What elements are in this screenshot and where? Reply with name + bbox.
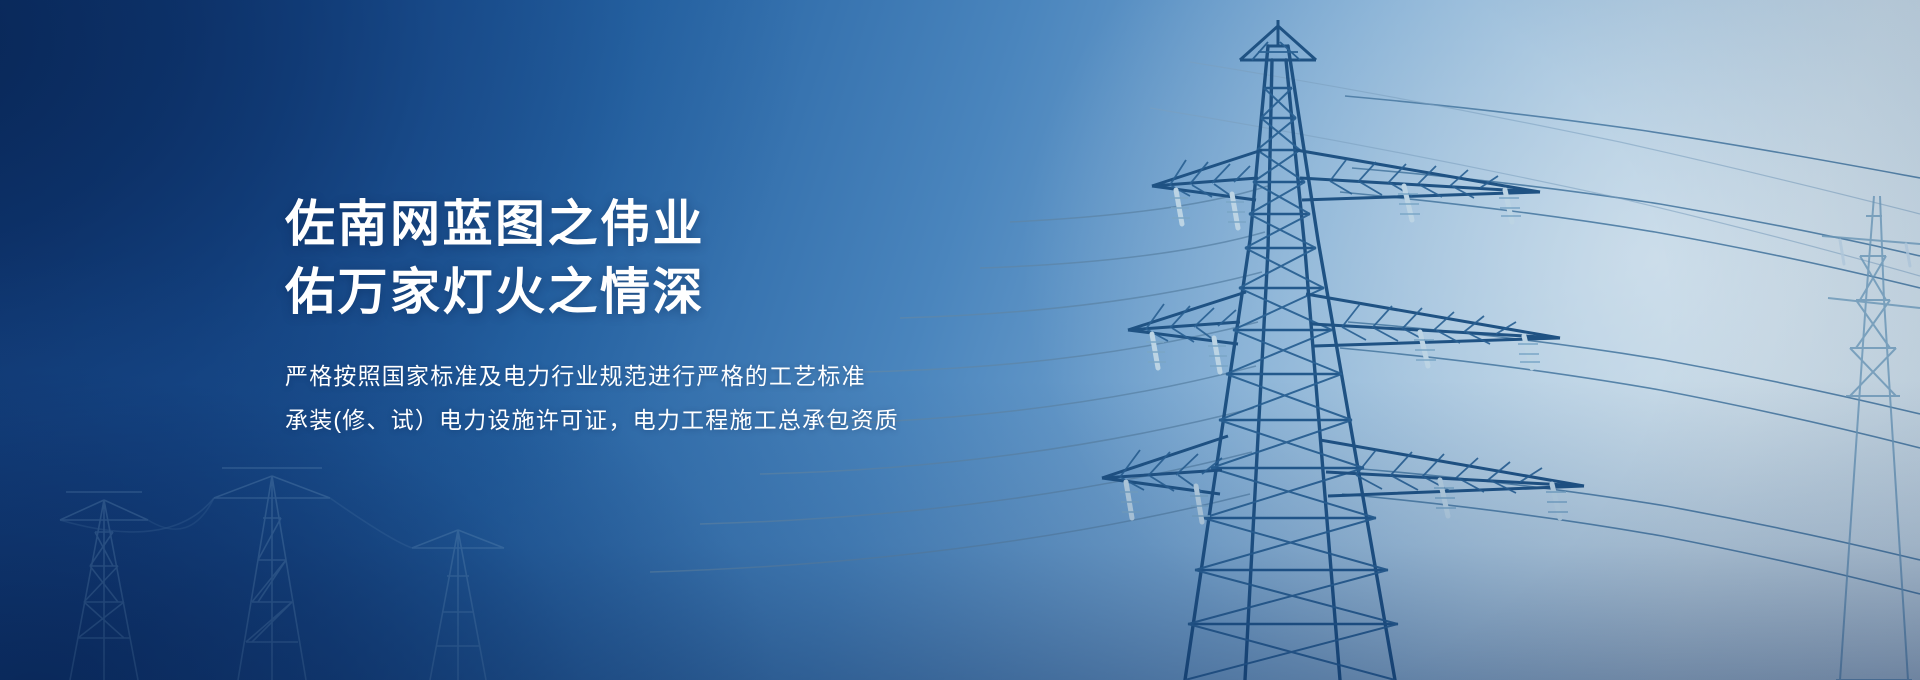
banner-copy: 佐南网蓝图之伟业 佑万家灯火之情深 严格按照国家标准及电力行业规范进行严格的工艺…: [285, 190, 1105, 442]
subtitle-block: 严格按照国家标准及电力行业规范进行严格的工艺标准 承装(修、试）电力设施许可证，…: [285, 354, 1105, 442]
subtitle-line-2: 承装(修、试）电力设施许可证，电力工程施工总承包资质: [285, 398, 1105, 442]
headline-line-1: 佐南网蓝图之伟业: [285, 190, 1105, 258]
subtitle-line-1: 严格按照国家标准及电力行业规范进行严格的工艺标准: [285, 354, 1105, 398]
headline-line-2: 佑万家灯火之情深: [285, 258, 1105, 326]
hero-banner: 佐南网蓝图之伟业 佑万家灯火之情深 严格按照国家标准及电力行业规范进行严格的工艺…: [0, 0, 1920, 680]
